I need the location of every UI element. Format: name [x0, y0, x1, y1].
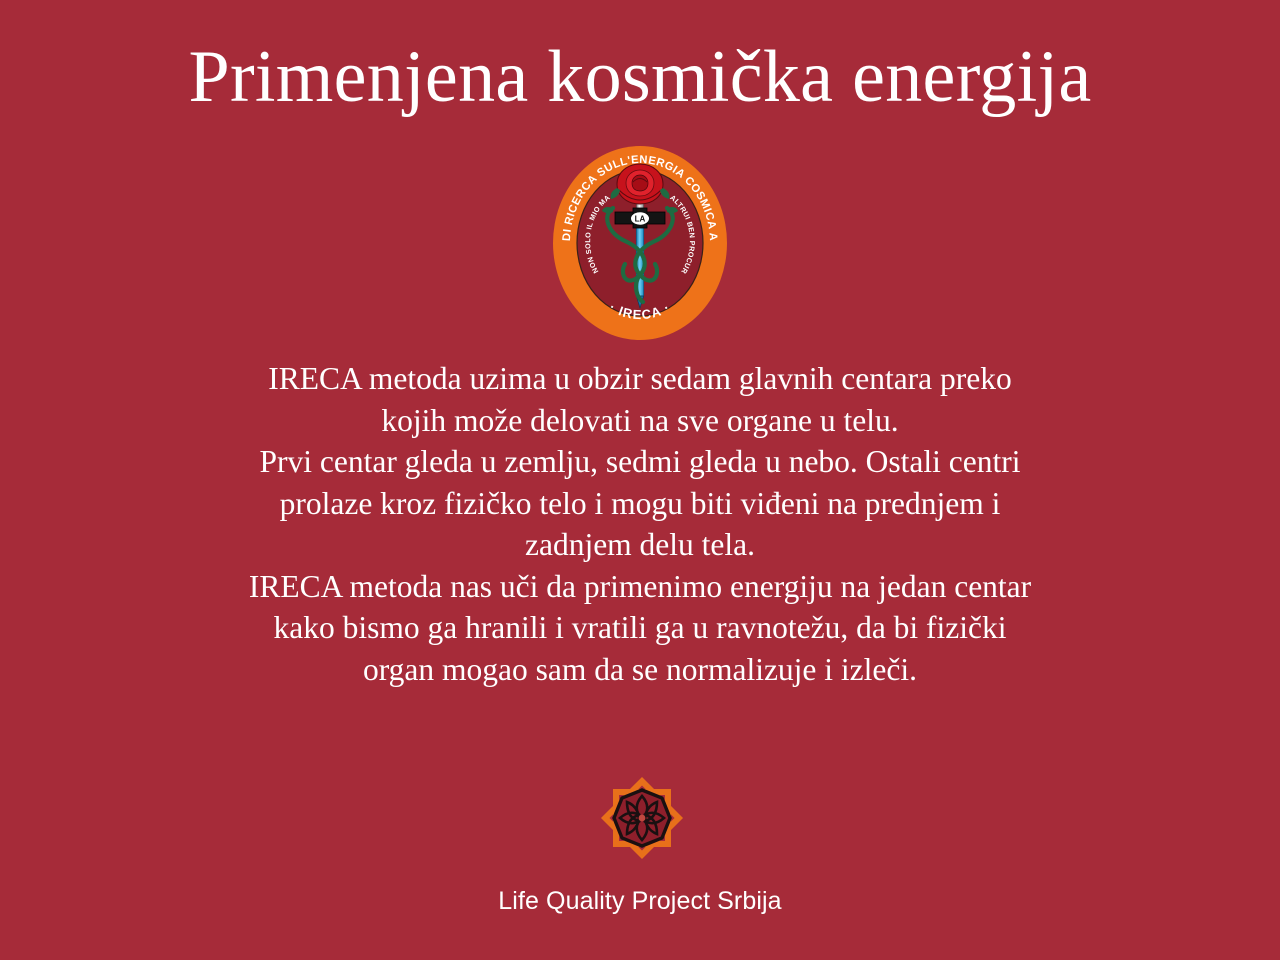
- body-line: zadnjem delu tela.: [140, 524, 1140, 566]
- ireca-logo: ISTITUTO DI RICERCA SULL'ENERGIA COSMICA…: [553, 146, 727, 340]
- ireca-emblem-icon: ISTITUTO DI RICERCA SULL'ENERGIA COSMICA…: [553, 146, 727, 340]
- body-line: prolaze kroz fizičko telo i mogu biti vi…: [140, 483, 1140, 525]
- footer-text: Life Quality Project Srbija: [0, 885, 1280, 917]
- footer-ornament: [600, 776, 684, 860]
- page-title: Primenjena kosmička energija: [0, 34, 1280, 120]
- slide-canvas: Primenjena kosmička energija: [0, 0, 1280, 960]
- body-line: kojih može delovati na sve organe u telu…: [140, 400, 1140, 442]
- body-line: IRECA metoda nas uči da primenimo energi…: [140, 566, 1140, 608]
- star-rosette-ornament-icon: [600, 776, 684, 860]
- body-line: IRECA metoda uzima u obzir sedam glavnih…: [140, 358, 1140, 400]
- body-text: IRECA metoda uzima u obzir sedam glavnih…: [140, 358, 1140, 690]
- body-line: organ mogao sam da se normalizuje i izle…: [140, 649, 1140, 691]
- logo-crossguard-label: LA: [635, 214, 646, 223]
- body-line: kako bismo ga hranili i vratili ga u rav…: [140, 607, 1140, 649]
- body-line: Prvi centar gleda u zemlju, sedmi gleda …: [140, 441, 1140, 483]
